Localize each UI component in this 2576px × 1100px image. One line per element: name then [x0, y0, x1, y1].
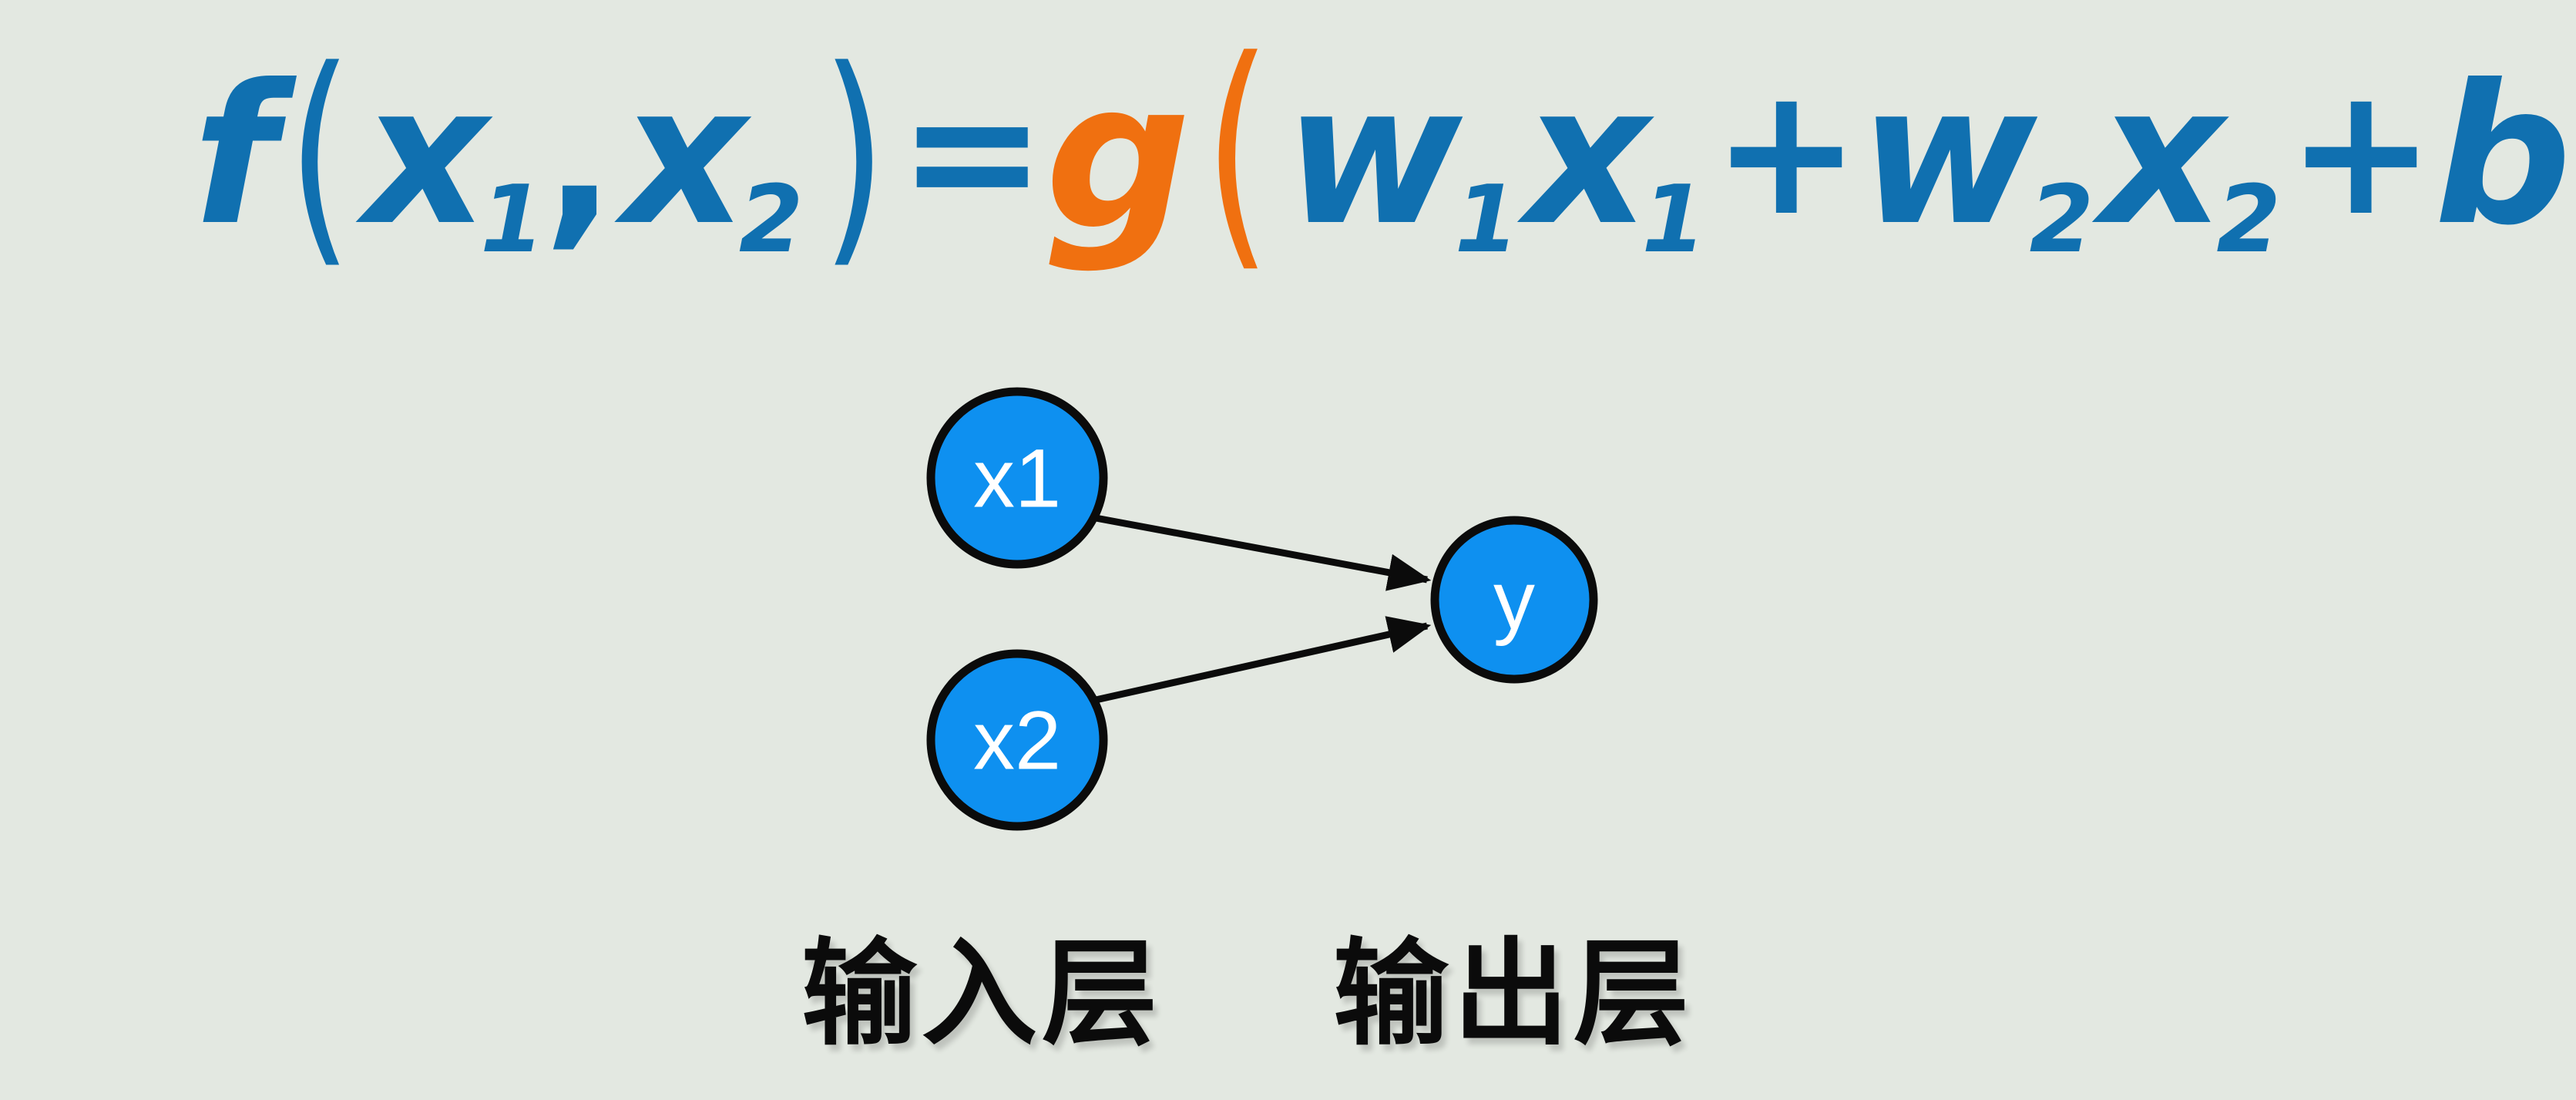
caption-input-layer: 输入层 — [801, 937, 1162, 1052]
formula-x-first: x — [364, 59, 486, 252]
formula-plus-second: + — [2287, 64, 2434, 241]
edge-x2-to-y — [1096, 626, 1427, 700]
formula-x-third: x — [1525, 59, 1647, 252]
edge-x1-to-y — [1096, 518, 1427, 580]
formula-expression: f ( x 1 , x 2 ) = g ( w 1 x 1 + w 2 x 2 … — [193, 14, 2543, 276]
formula-subscript-2-a: 2 — [739, 174, 804, 267]
slide-canvas: f ( x 1 , x 2 ) = g ( w 1 x 1 + w 2 x 2 … — [0, 0, 2576, 1100]
formula-f: f — [193, 59, 275, 252]
formula-comma: , — [543, 59, 615, 252]
layer-captions: 输入层 输出层 — [0, 937, 2576, 1091]
formula-equals: = — [898, 64, 1045, 241]
node-y-label: y — [1493, 553, 1535, 647]
formula-subscript-2-b: 2 — [2030, 174, 2094, 267]
node-x2-label: x2 — [973, 694, 1061, 787]
formula-open-paren-blue: ( — [287, 39, 351, 271]
node-x2[interactable]: x2 — [931, 654, 1103, 826]
node-x1-label: x1 — [973, 432, 1061, 525]
formula-g-activation: g — [1045, 55, 1190, 259]
edge-group — [1096, 518, 1427, 700]
node-y[interactable]: y — [1435, 520, 1594, 679]
formula-b-bias: b — [2434, 59, 2571, 252]
formula-x-fourth: x — [2100, 59, 2222, 252]
formula-x-second: x — [623, 59, 745, 252]
formula-w-second: w — [1859, 59, 2036, 252]
formula-subscript-1-a: 1 — [480, 174, 545, 267]
formula-subscript-2-c: 2 — [2216, 174, 2281, 267]
formula-close-paren-blue: ) — [821, 39, 885, 271]
formula-subscript-1-b: 1 — [1455, 174, 1520, 267]
formula-w-first: w — [1285, 59, 1461, 252]
formula-plus-first: + — [1712, 64, 1859, 241]
caption-output-layer: 输出层 — [1333, 937, 1694, 1052]
formula-subscript-1-c: 1 — [1641, 174, 1706, 267]
node-x1[interactable]: x1 — [931, 392, 1103, 564]
neural-network-diagram: x1 x2 y — [0, 308, 2576, 894]
formula-open-paren-orange: ( — [1204, 28, 1270, 274]
